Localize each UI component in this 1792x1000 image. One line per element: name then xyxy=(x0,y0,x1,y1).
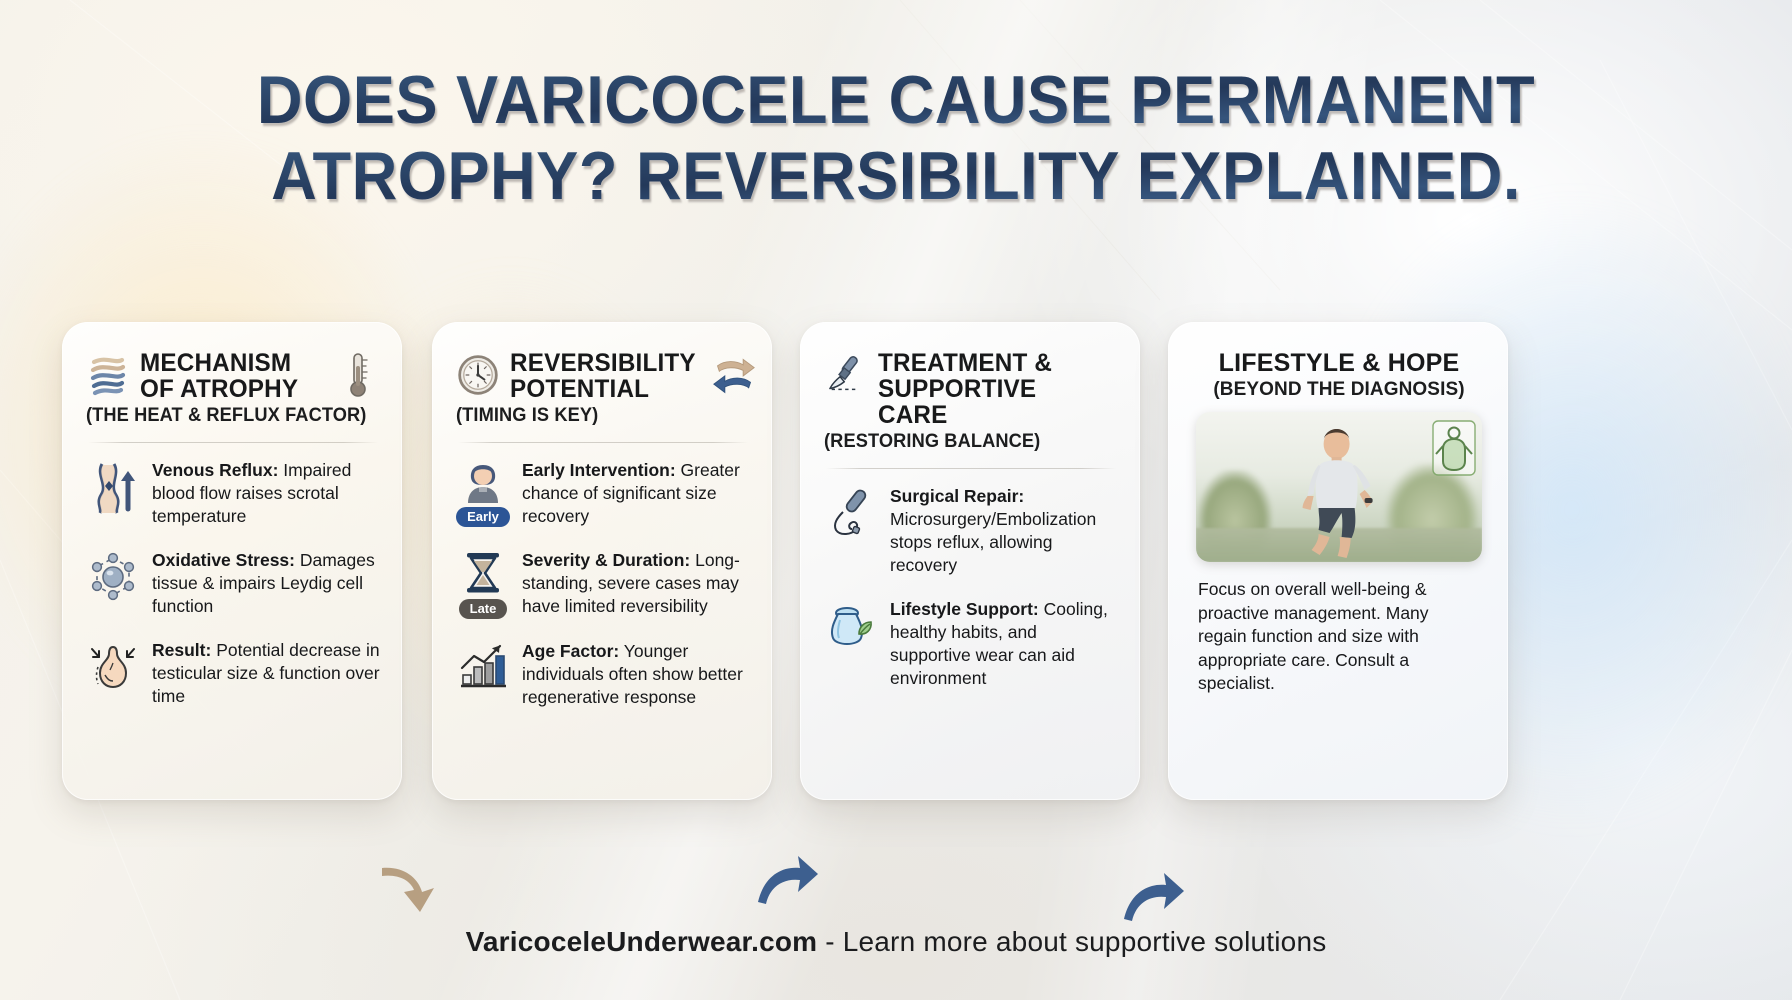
list-item: Lifestyle Support: Cooling, healthy habi… xyxy=(824,598,1118,690)
page-title: DOES VARICOCELE CAUSE PERMANENT ATROPHY?… xyxy=(0,62,1792,214)
list-item-label: Surgical Repair: xyxy=(890,486,1024,506)
list-item: Age Factor: Younger individuals often sh… xyxy=(456,640,750,709)
card-reversibility-potential: REVERSIBILITY POTENTIAL (TIMING IS KEY) xyxy=(432,322,772,800)
card3-header: TREATMENT & SUPPORTIVE CARE xyxy=(824,350,1118,428)
molecule-oxidative-icon xyxy=(86,549,140,603)
card4-title-block: LIFESTYLE & HOPE (BEYOND THE DIAGNOSIS) xyxy=(1213,350,1464,402)
footer-brand[interactable]: VaricoceleUnderwear.com xyxy=(466,926,818,957)
card2-title-block: REVERSIBILITY POTENTIAL xyxy=(510,350,702,402)
card4-header: LIFESTYLE & HOPE (BEYOND THE DIAGNOSIS) xyxy=(1192,350,1486,402)
footer-tagline: - Learn more about supportive solutions xyxy=(817,926,1326,957)
runner-figure xyxy=(1277,424,1397,562)
body-outline-icon xyxy=(1432,420,1476,476)
list-item-text: Age Factor: Younger individuals often sh… xyxy=(522,640,750,709)
list-item: Oxidative Stress: Damages tissue & impai… xyxy=(86,549,380,618)
list-item-label: Venous Reflux: xyxy=(152,460,278,480)
list-item-text: Severity & Duration: Long-standing, seve… xyxy=(522,549,750,618)
card4-title-line1: LIFESTYLE & HOPE xyxy=(1213,350,1464,376)
card3-subtitle: (RESTORING BALANCE) xyxy=(824,430,1106,454)
list-item: Early Early Intervention: Greater chance… xyxy=(456,459,750,528)
list-item-label: Age Factor: xyxy=(522,641,619,661)
intestine-veins-icon xyxy=(86,350,130,400)
bar-chart-growth-icon xyxy=(456,640,510,688)
arrow-card1-to-card2 xyxy=(378,862,442,920)
list-item: Venous Reflux: Impaired blood flow raise… xyxy=(86,459,380,528)
vein-blood-flow-icon xyxy=(86,459,140,515)
list-item-text: Early Intervention: Greater chance of si… xyxy=(522,459,750,528)
list-item-label: Oxidative Stress: xyxy=(152,550,295,570)
surgical-instrument-icon xyxy=(824,485,878,541)
card-lifestyle-and-hope: LIFESTYLE & HOPE (BEYOND THE DIAGNOSIS) xyxy=(1168,322,1508,800)
swap-arrows-icon xyxy=(712,350,756,400)
list-item-text: Lifestyle Support: Cooling, healthy habi… xyxy=(890,598,1118,690)
list-item-label: Lifestyle Support: xyxy=(890,599,1039,619)
card1-title-line2: OF ATROPHY xyxy=(140,376,320,402)
card4-caption: Focus on overall well-being & proactive … xyxy=(1198,578,1480,696)
ice-pack-leaf-icon xyxy=(824,598,878,652)
badge-late: Late xyxy=(459,599,508,619)
card2-subtitle: (TIMING IS KEY) xyxy=(456,404,738,428)
card2-divider xyxy=(458,442,748,443)
person-young-icon: Early xyxy=(456,459,510,527)
list-item-text: Surgical Repair: Microsurgery/Embolizati… xyxy=(890,485,1118,577)
card1-subtitle: (THE HEAT & REFLUX FACTOR) xyxy=(86,404,368,428)
list-item-text: Oxidative Stress: Damages tissue & impai… xyxy=(152,549,380,618)
card3-title-block: TREATMENT & SUPPORTIVE CARE xyxy=(878,350,1118,428)
card2-title-line1: REVERSIBILITY xyxy=(510,350,696,376)
clock-icon xyxy=(456,350,500,400)
title-line-1: DOES VARICOCELE CAUSE PERMANENT xyxy=(63,62,1730,138)
card2-header: REVERSIBILITY POTENTIAL xyxy=(456,350,750,402)
list-item-label: Severity & Duration: xyxy=(522,550,690,570)
badge-early: Early xyxy=(456,507,510,527)
card2-title-line2: POTENTIAL xyxy=(510,376,696,402)
cards-row: MECHANISM OF ATROPHY (THE HEAT & REFLUX … xyxy=(0,322,1792,800)
list-item-label: Early Intervention: xyxy=(522,460,676,480)
hourglass-icon: Late xyxy=(456,549,510,619)
card3-title-line1: TREATMENT & xyxy=(878,350,1111,376)
list-item: Late Severity & Duration: Long-standing,… xyxy=(456,549,750,619)
card1-title-block: MECHANISM OF ATROPHY xyxy=(140,350,326,402)
card4-subtitle: (BEYOND THE DIAGNOSIS) xyxy=(1213,378,1464,402)
list-item-text: Venous Reflux: Impaired blood flow raise… xyxy=(152,459,380,528)
card1-header: MECHANISM OF ATROPHY xyxy=(86,350,380,402)
card1-title-line1: MECHANISM xyxy=(140,350,320,376)
title-line-2: ATROPHY? REVERSIBILITY EXPLAINED. xyxy=(63,138,1730,214)
testicle-shrink-icon xyxy=(86,639,140,693)
card1-divider xyxy=(88,442,378,443)
list-item: Surgical Repair: Microsurgery/Embolizati… xyxy=(824,485,1118,577)
list-item-desc: Microsurgery/Embolization stops reflux, … xyxy=(890,509,1096,575)
scalpel-icon xyxy=(824,350,868,400)
card3-title-line2: SUPPORTIVE CARE xyxy=(878,376,1111,428)
card-mechanism-of-atrophy: MECHANISM OF ATROPHY (THE HEAT & REFLUX … xyxy=(62,322,402,800)
thermometer-icon xyxy=(336,350,380,400)
list-item: Result: Potential decrease in testicular… xyxy=(86,639,380,708)
list-item-label: Result: xyxy=(152,640,211,660)
card3-divider xyxy=(826,468,1116,469)
card-treatment-supportive-care: TREATMENT & SUPPORTIVE CARE (RESTORING B… xyxy=(800,322,1140,800)
list-item-text: Result: Potential decrease in testicular… xyxy=(152,639,380,708)
arrow-card3-to-card4 xyxy=(1122,867,1186,925)
arrow-card2-to-card3 xyxy=(756,850,820,908)
footer: VaricoceleUnderwear.com - Learn more abo… xyxy=(0,926,1792,958)
running-man-photo xyxy=(1196,412,1482,562)
